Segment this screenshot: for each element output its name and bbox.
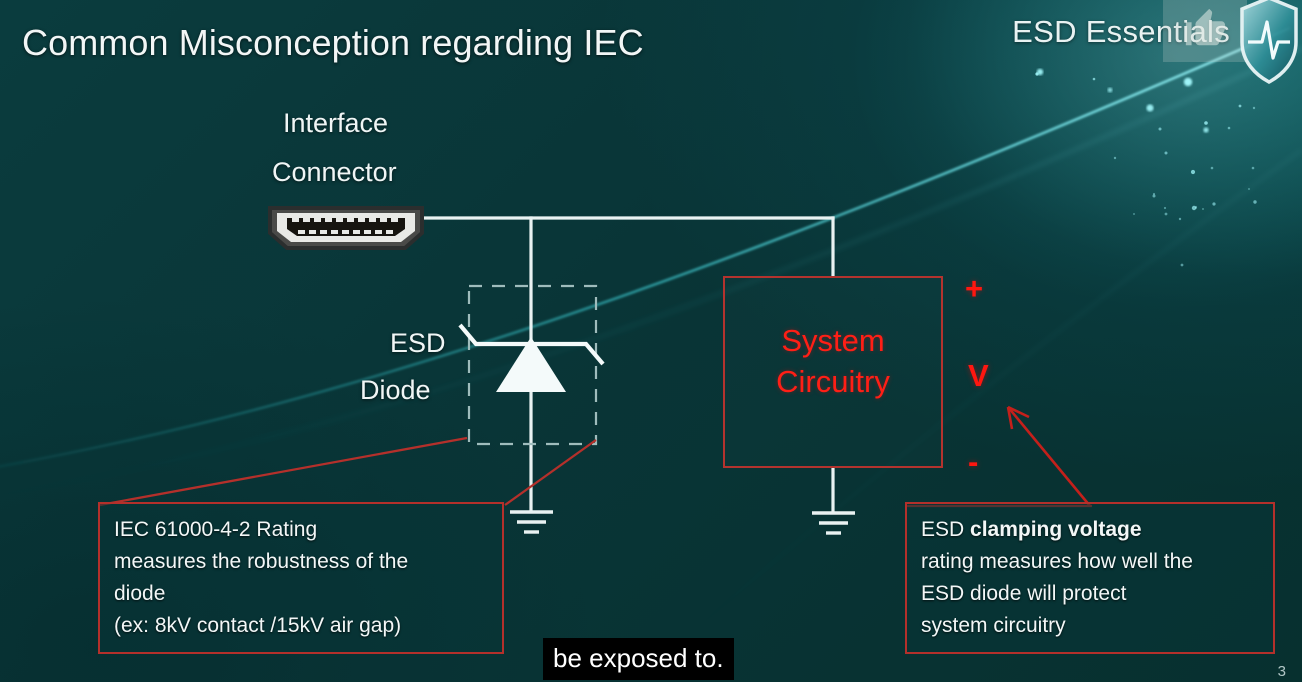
callout-left-line1: IEC 61000-4-2 Rating bbox=[114, 514, 488, 546]
interface-connector-label-line1: Interface bbox=[283, 108, 388, 139]
page-number: 3 bbox=[1278, 663, 1286, 680]
callout-left-line4: (ex: 8kV contact /15kV air gap) bbox=[114, 610, 488, 642]
ground-symbol-icon bbox=[812, 513, 855, 533]
callout-right-line2: rating measures how well the bbox=[921, 546, 1259, 578]
callout-left-line3: diode bbox=[114, 578, 488, 610]
callout-right-line1: ESD clamping voltage bbox=[921, 514, 1259, 546]
polarity-v-label: V bbox=[968, 358, 989, 394]
system-circuitry-label: System Circuitry bbox=[723, 320, 943, 402]
subtitle-caption: be exposed to. bbox=[543, 638, 734, 680]
callout-leader-left bbox=[100, 438, 596, 505]
callout-right-line3: ESD diode will protect bbox=[921, 578, 1259, 610]
system-circuitry-line2: Circuitry bbox=[723, 361, 943, 402]
slide-canvas: Common Misconception regarding IEC ESD E… bbox=[0, 0, 1302, 682]
callout-right-line1-bold: clamping voltage bbox=[970, 518, 1142, 541]
polarity-plus-label: + bbox=[965, 271, 983, 307]
callout-right-line1-prefix: ESD bbox=[921, 518, 970, 541]
callout-right-line4: system circuitry bbox=[921, 610, 1259, 642]
esd-diode-label-line1: ESD bbox=[390, 328, 446, 359]
hdmi-connector-icon bbox=[265, 203, 427, 253]
callout-left-line2: measures the robustness of the bbox=[114, 546, 488, 578]
callout-arrow-right bbox=[1008, 407, 1090, 506]
ground-symbol-icon bbox=[510, 512, 553, 532]
callout-right: ESD clamping voltage rating measures how… bbox=[905, 502, 1275, 654]
esd-diode-label-line2: Diode bbox=[360, 375, 431, 406]
callout-left: IEC 61000-4-2 Rating measures the robust… bbox=[98, 502, 504, 654]
system-circuitry-line1: System bbox=[723, 320, 943, 361]
interface-connector-label-line2: Connector bbox=[272, 157, 397, 188]
polarity-minus-label: - bbox=[968, 444, 978, 480]
